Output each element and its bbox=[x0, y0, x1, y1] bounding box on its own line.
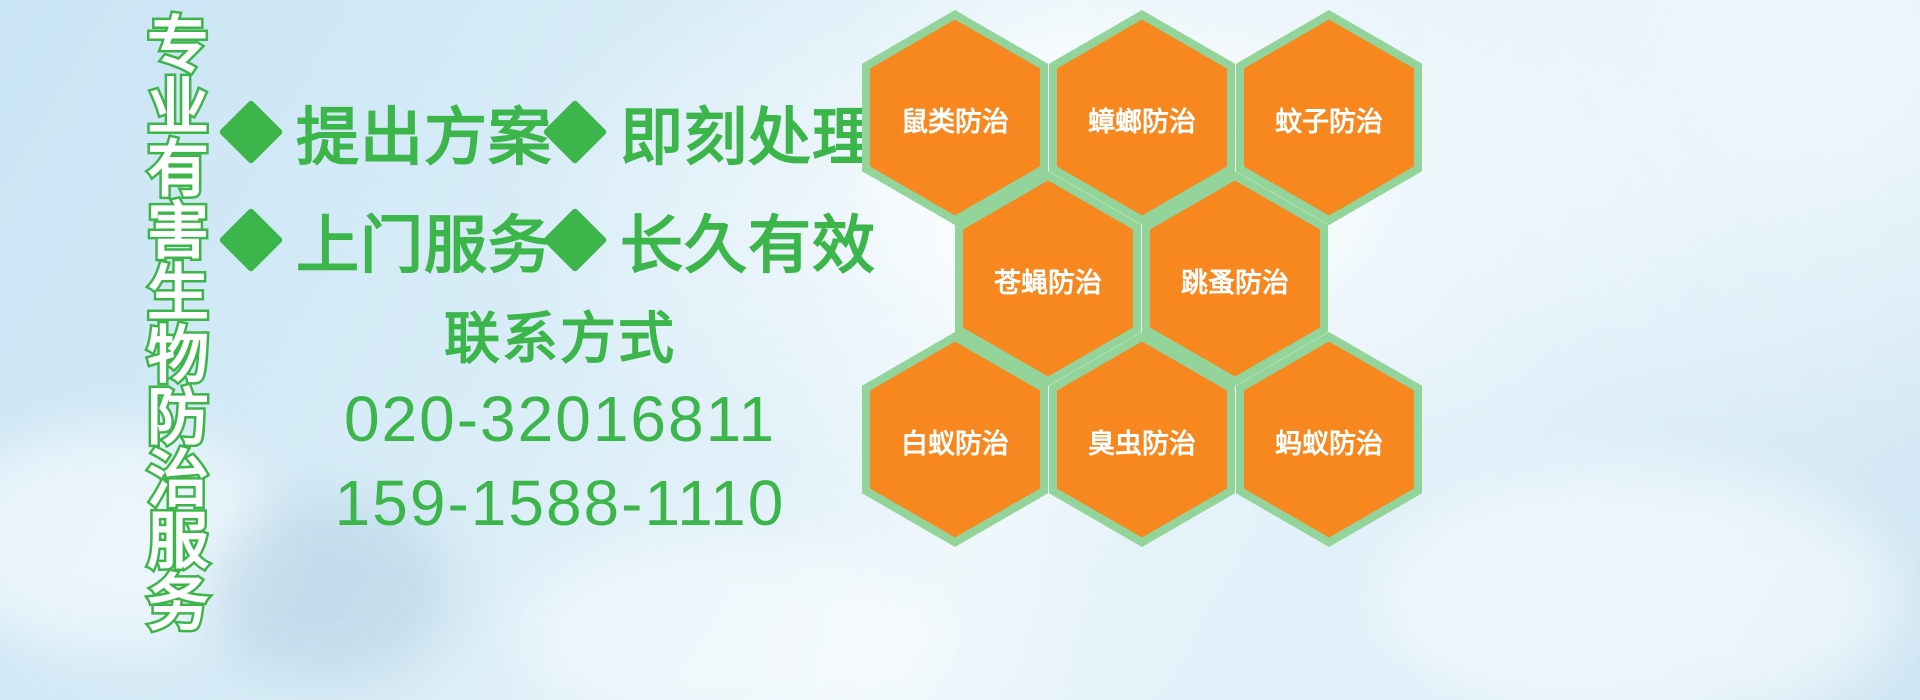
feature-item: 提出方案 bbox=[228, 87, 552, 178]
service-label: 鼠类防治 bbox=[901, 100, 1009, 139]
contact-title: 联系方式 bbox=[250, 305, 870, 375]
phone-number-primary[interactable]: 020-32016811 bbox=[250, 379, 870, 459]
feature-label: 长久有效 bbox=[620, 195, 876, 286]
service-honeycomb: 鼠类防治 蟑螂防治 蚊子防治 苍蝇防治 跳蚤防治 白蚁防治 bbox=[862, 2, 1462, 582]
service-label: 蚊子防治 bbox=[1275, 100, 1383, 139]
feature-item: 长久有效 bbox=[552, 195, 876, 286]
contact-block: 联系方式 020-32016811 159-1588-1110 bbox=[250, 305, 870, 543]
hex-fill: 苍蝇防治 bbox=[963, 181, 1133, 377]
diamond-bullet-icon bbox=[542, 207, 607, 272]
service-label: 蟑螂防治 bbox=[1088, 100, 1196, 139]
service-label: 苍蝇防治 bbox=[994, 261, 1102, 300]
feature-label: 提出方案 bbox=[296, 87, 552, 178]
service-label: 蚂蚁防治 bbox=[1275, 422, 1383, 461]
diamond-bullet-icon bbox=[218, 207, 283, 272]
feature-item: 上门服务 bbox=[228, 195, 552, 286]
hex-fill: 蟑螂防治 bbox=[1057, 20, 1227, 216]
vertical-headline: 专业有害生物防治服务 bbox=[108, 12, 204, 632]
diamond-bullet-icon bbox=[218, 99, 283, 164]
hex-fill: 鼠类防治 bbox=[870, 20, 1040, 216]
service-label: 跳蚤防治 bbox=[1181, 261, 1289, 300]
pest-control-banner: 专业有害生物防治服务 提出方案 即刻处理 上门服务 长久有效 bbox=[0, 0, 1920, 700]
hex-fill: 蚊子防治 bbox=[1244, 20, 1414, 216]
hex-fill: 跳蚤防治 bbox=[1150, 181, 1320, 377]
diamond-bullet-icon bbox=[542, 99, 607, 164]
feature-item: 即刻处理 bbox=[552, 87, 876, 178]
feature-row: 提出方案 即刻处理 bbox=[228, 78, 868, 186]
feature-label: 上门服务 bbox=[296, 195, 552, 286]
service-label: 臭虫防治 bbox=[1088, 422, 1196, 461]
service-label: 白蚁防治 bbox=[901, 422, 1009, 461]
phone-number-secondary[interactable]: 159-1588-1110 bbox=[250, 463, 870, 543]
feature-row: 上门服务 长久有效 bbox=[228, 186, 868, 294]
feature-list: 提出方案 即刻处理 上门服务 长久有效 bbox=[228, 78, 868, 294]
hex-fill: 白蚁防治 bbox=[870, 342, 1040, 538]
hex-fill: 臭虫防治 bbox=[1057, 342, 1227, 538]
feature-label: 即刻处理 bbox=[620, 87, 876, 178]
hex-fill: 蚂蚁防治 bbox=[1244, 342, 1414, 538]
